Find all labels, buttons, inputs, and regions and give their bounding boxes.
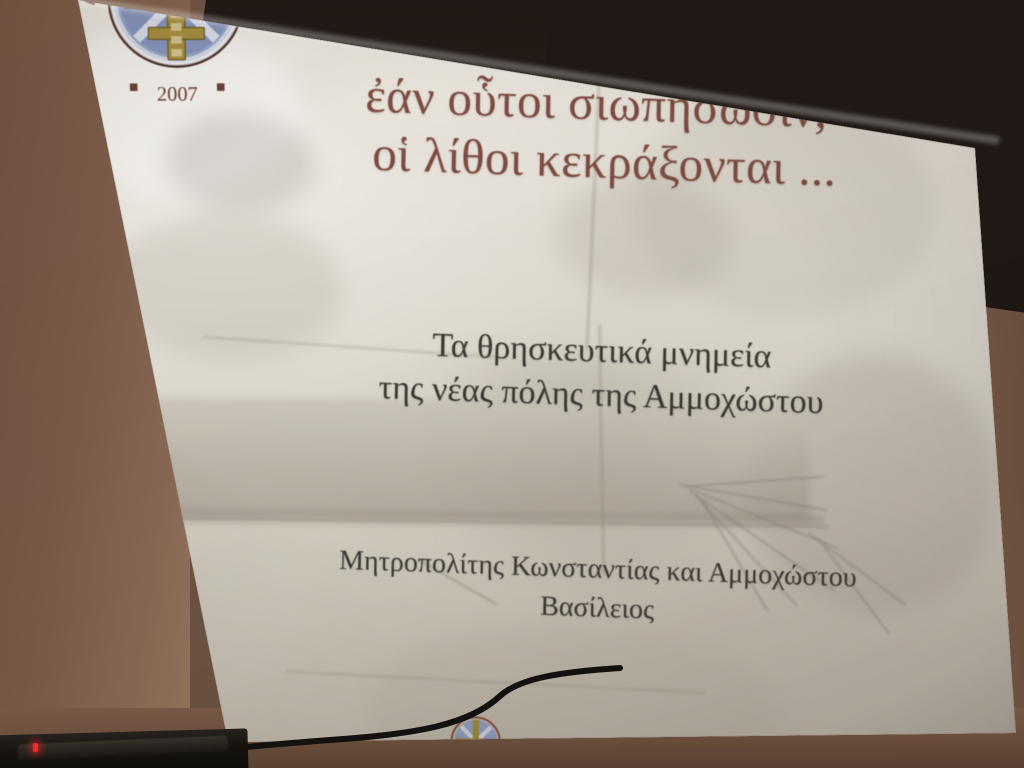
svg-text:2007: 2007 xyxy=(157,84,198,106)
power-led-indicator xyxy=(33,743,38,752)
slide-subtitle: Τα θρησκευτικά μνημεία της νέας πόλης τη… xyxy=(291,319,912,428)
room-scene: ΙΕΡΑ ΜΗΤΡΟΠΟΛΙΣ ΚΩΝΣΤΑΝΤΙΑΣ - ΑΜΜΟΧΩΣΤΟΥ… xyxy=(0,0,1024,768)
slide-author: Μητροπολίτης Κωνσταντίας και Αμμοχώστου … xyxy=(267,538,928,639)
